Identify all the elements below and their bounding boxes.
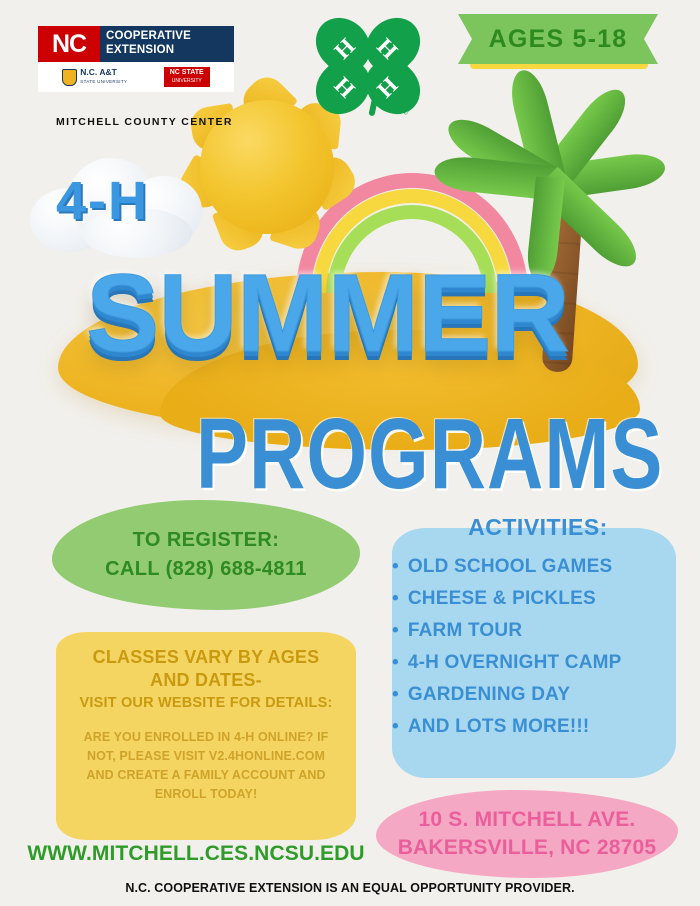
nc-cooperative-extension-logo: NC COOPERATIVE EXTENSION N.C. A&T STATE … xyxy=(38,26,234,92)
nc-state-name: NC STATE xyxy=(170,69,204,76)
activity-label: AND LOTS MORE!!! xyxy=(408,716,590,738)
title-summer: SUMMER xyxy=(86,250,569,377)
list-item: • AND LOTS MORE!!! xyxy=(392,716,682,738)
title-programs: PROGRAMS xyxy=(196,396,663,512)
nc-at-sub: STATE UNIVERSITY xyxy=(80,77,127,86)
list-item: • CHEESE & PICKLES xyxy=(392,588,682,610)
sun-ray xyxy=(212,199,269,256)
activity-label: GARDENING DAY xyxy=(408,684,570,706)
address-city-state-zip: BAKERSVILLE, NC 28705 xyxy=(398,836,657,860)
logo-nc-mark: NC xyxy=(38,26,100,62)
nc-state-sub: UNIVERSITY xyxy=(170,77,204,85)
address-street: 10 S. MITCHELL AVE. xyxy=(419,808,636,832)
classes-body: ARE YOU ENROLLED IN 4-H ONLINE? IF NOT, … xyxy=(74,728,338,804)
address-callout: 10 S. MITCHELL AVE. BAKERSVILLE, NC 2870… xyxy=(376,790,678,878)
activity-label: FARM TOUR xyxy=(408,620,522,642)
logo-wordmark-line2: EXTENSION xyxy=(106,43,229,57)
nc-at-label: N.C. A&T STATE UNIVERSITY xyxy=(80,68,127,86)
bullet-icon: • xyxy=(392,653,399,672)
logo-banner: NC COOPERATIVE EXTENSION xyxy=(38,26,234,62)
activity-label: 4-H OVERNIGHT CAMP xyxy=(408,652,622,674)
register-heading: TO REGISTER: xyxy=(133,529,280,552)
sun-ray xyxy=(236,70,298,132)
ages-badge: AGES 5-18 xyxy=(458,14,658,64)
nc-at-name: N.C. A&T xyxy=(80,67,117,77)
classes-subheading: VISIT OUR WEBSITE FOR DETAILS: xyxy=(74,695,338,711)
palm-frond xyxy=(505,66,568,193)
county-center-label: MITCHELL COUNTY CENTER xyxy=(56,116,233,128)
palm-frond xyxy=(441,110,564,200)
classes-heading: CLASSES VARY BY AGES AND DATES- xyxy=(74,646,338,692)
logo-partners: N.C. A&T STATE UNIVERSITY NC STATE UNIVE… xyxy=(38,62,234,92)
classes-callout: CLASSES VARY BY AGES AND DATES- VISIT OU… xyxy=(56,632,356,840)
nc-at-university-logo: N.C. A&T STATE UNIVERSITY xyxy=(62,68,127,86)
bullet-icon: • xyxy=(392,685,399,704)
website-url[interactable]: WWW.MITCHELL.CES.NCSU.EDU xyxy=(26,842,366,866)
ages-badge-label: AGES 5-18 xyxy=(489,25,628,54)
activities-list: • OLD SCHOOL GAMES • CHEESE & PICKLES • … xyxy=(392,556,682,748)
equal-opportunity-disclaimer: N.C. COOPERATIVE EXTENSION IS AN EQUAL O… xyxy=(0,881,700,895)
sun-ray xyxy=(173,154,233,214)
bullet-icon: • xyxy=(392,717,399,736)
palm-frond xyxy=(433,154,558,201)
clover-stem xyxy=(368,100,377,117)
list-item: • 4-H OVERNIGHT CAMP xyxy=(392,652,682,674)
sun-ray xyxy=(301,150,362,211)
register-callout: TO REGISTER: CALL (828) 688-4811 xyxy=(52,500,360,610)
logo-wordmark: COOPERATIVE EXTENSION xyxy=(100,26,234,62)
sun-ray xyxy=(188,103,238,153)
activity-label: CHEESE & PICKLES xyxy=(408,588,596,610)
sun-ray xyxy=(269,198,324,253)
list-item: • GARDENING DAY xyxy=(392,684,682,706)
activities-heading: ACTIVITIES: xyxy=(438,514,638,541)
register-phone: CALL (828) 688-4811 xyxy=(105,558,307,581)
list-item: • FARM TOUR xyxy=(392,620,682,642)
bullet-icon: • xyxy=(392,557,399,576)
activity-label: OLD SCHOOL GAMES xyxy=(408,556,612,578)
four-h-clover-icon: H H H H 4-H CLUB xyxy=(316,12,420,116)
palm-frond xyxy=(533,81,635,198)
nc-state-university-logo: NC STATE UNIVERSITY xyxy=(164,67,210,87)
bullet-icon: • xyxy=(392,621,399,640)
title-four-h: 4-H xyxy=(56,170,149,232)
list-item: • OLD SCHOOL GAMES xyxy=(392,556,682,578)
aggie-bell-icon xyxy=(62,69,77,86)
palm-frond xyxy=(542,150,668,201)
logo-wordmark-line1: COOPERATIVE xyxy=(106,29,229,43)
bullet-icon: • xyxy=(392,589,399,608)
flyer-canvas: NC COOPERATIVE EXTENSION N.C. A&T STATE … xyxy=(0,0,700,906)
